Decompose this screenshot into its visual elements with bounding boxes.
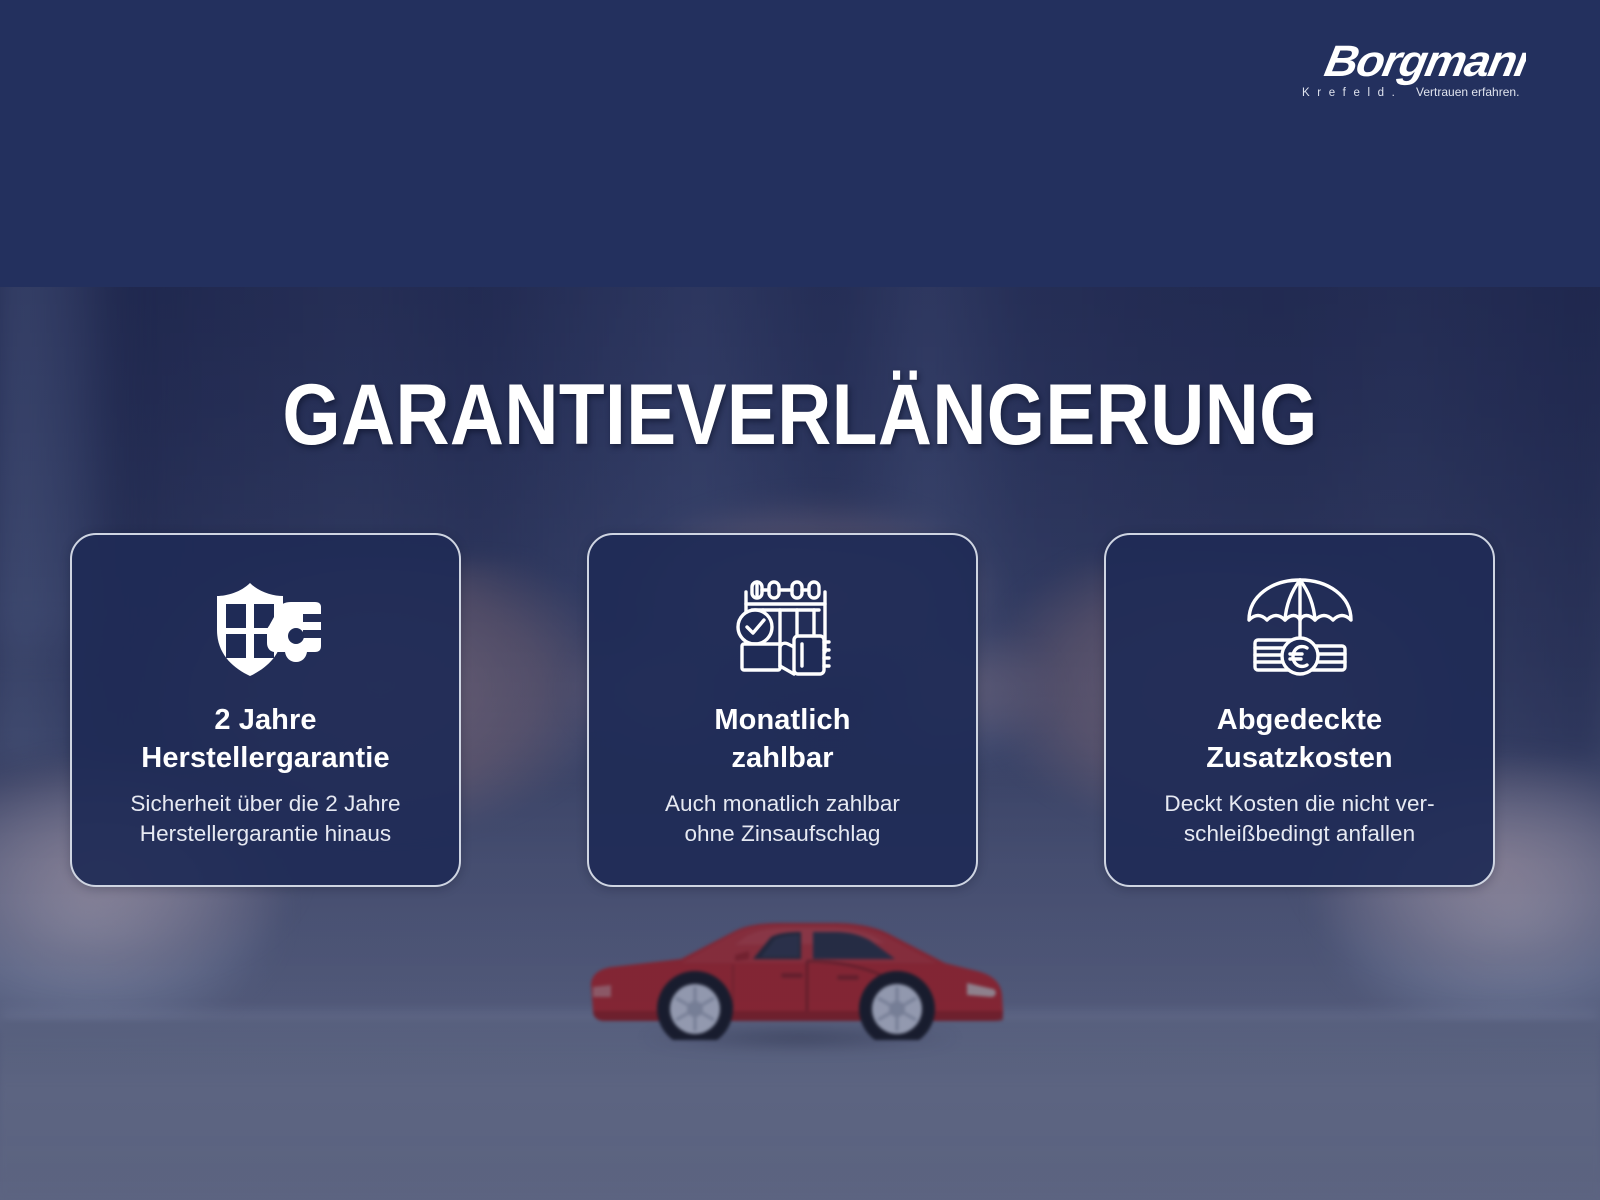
feature-card-extra-costs[interactable]: Abgedeckte Zusatzkosten Deckt Kosten die… — [1104, 533, 1495, 887]
feature-card-warranty[interactable]: 2 Jahre Herstellergarantie Sicherheit üb… — [70, 533, 461, 887]
page-title: GARANTIEVERLÄNGERUNG — [0, 372, 1600, 458]
card-body: Auch monatlich zahlbar ohne Zinsaufschla… — [665, 789, 900, 849]
card-title-line-2: Zusatzkosten — [1206, 739, 1393, 777]
borgmann-logo[interactable]: Borgmann K r e f e l d . Vertrauen erfah… — [1296, 32, 1526, 104]
card-body: Deckt Kosten die nicht ver- schleißbedin… — [1164, 789, 1434, 849]
page-title-text: GARANTIEVERLÄNGERUNG — [282, 372, 1317, 458]
card-title-line-1: Abgedeckte — [1206, 701, 1393, 739]
card-title-line-2: zahlbar — [714, 739, 850, 777]
card-body-line-1: Deckt Kosten die nicht ver- — [1164, 789, 1434, 819]
svg-text:K r e f e l d .: K r e f e l d . — [1302, 87, 1397, 99]
card-title-line-2: Herstellergarantie — [141, 739, 389, 777]
svg-text:Vertrauen erfahren.: Vertrauen erfahren. — [1416, 85, 1519, 99]
card-body-line-1: Auch monatlich zahlbar — [665, 789, 900, 819]
feature-card-monthly-payment[interactable]: Monatlich zahlbar Auch monatlich zahlbar… — [587, 533, 978, 887]
feature-card-list: 2 Jahre Herstellergarantie Sicherheit üb… — [70, 533, 1495, 887]
calendar-payment-icon — [724, 569, 842, 689]
shield-car-icon — [207, 569, 325, 689]
card-title-line-1: Monatlich — [714, 701, 850, 739]
card-body-line-2: schleißbedingt anfallen — [1164, 819, 1434, 849]
card-title-line-1: 2 Jahre — [141, 701, 389, 739]
card-title: Abgedeckte Zusatzkosten — [1206, 701, 1393, 778]
card-title: 2 Jahre Herstellergarantie — [141, 701, 389, 778]
svg-text:Borgmann: Borgmann — [1321, 36, 1526, 86]
card-body-line-2: ohne Zinsaufschlag — [665, 819, 900, 849]
promo-banner: Kennen Sie schon unsere VORSORGE-VERSICH… — [0, 0, 1600, 1200]
card-body-line-1: Sicherheit über die 2 Jahre — [130, 789, 400, 819]
card-title: Monatlich zahlbar — [714, 701, 850, 778]
umbrella-coins-icon — [1241, 569, 1359, 689]
card-body: Sicherheit über die 2 Jahre Herstellerga… — [130, 789, 400, 849]
card-body-line-2: Herstellergarantie hinaus — [130, 819, 400, 849]
